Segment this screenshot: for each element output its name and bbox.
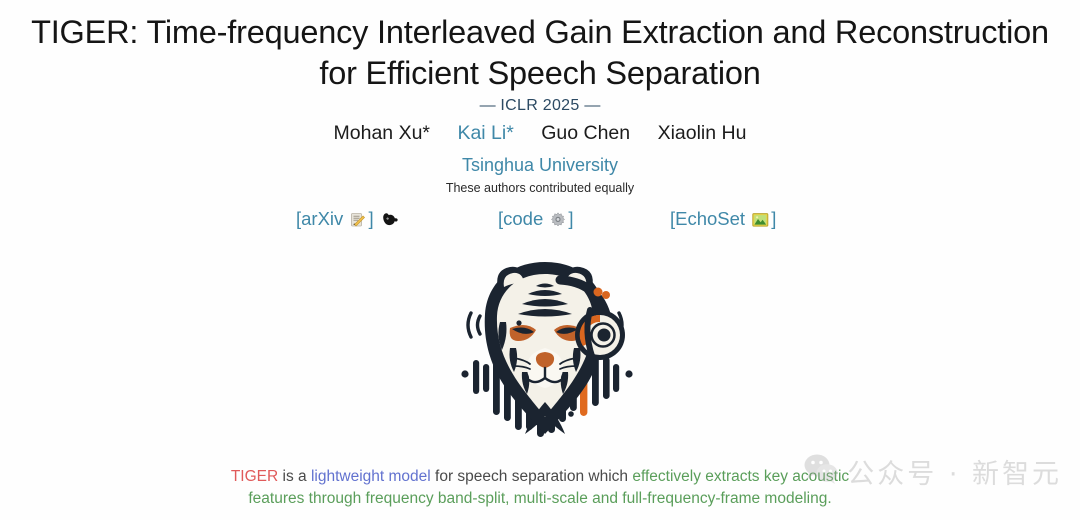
caption-line-1: TIGER is a lightweight model for speech … (0, 466, 1080, 488)
venue-badge: — ICLR 2025 — (480, 97, 601, 115)
arxiv-label: arXiv (301, 208, 343, 229)
title-line-2: for Efficient Speech Separation (0, 53, 1080, 94)
memo-icon (350, 209, 366, 235)
echoset-link[interactable]: [EchoSet ] (670, 206, 776, 235)
caption-line-2: features through frequency band-split, m… (0, 488, 1080, 510)
caption-seg-lightweight: lightweight model (311, 468, 431, 485)
code-label: code (503, 208, 543, 229)
author-kai-li[interactable]: Kai Li* (457, 122, 513, 145)
echoset-close-bracket: ] (771, 208, 776, 229)
resource-links-row: [arXiv ] [code (0, 206, 1080, 234)
arxiv-link[interactable]: [arXiv ] (296, 206, 399, 235)
slide-root: TIGER: Time-frequency Interleaved Gain E… (0, 0, 1080, 520)
caption-seg-forspeech: for speech separation which (431, 468, 633, 485)
equal-contribution-note: These authors contributed equally (0, 181, 1080, 195)
title-line-1: TIGER: Time-frequency Interleaved Gain E… (0, 12, 1080, 53)
gear-icon (550, 209, 566, 235)
venue-dash-left: — (480, 97, 496, 114)
tiger-headphones-waveform-logo (440, 252, 650, 457)
page-title: TIGER: Time-frequency Interleaved Gain E… (0, 12, 1080, 94)
echoset-label: EchoSet (675, 208, 745, 229)
code-close-bracket: ] (568, 208, 573, 229)
caption-seg-effectively: effectively extracts key acoustic (632, 468, 849, 485)
code-link[interactable]: [code ] (498, 206, 574, 235)
venue-dash-right: — (584, 97, 600, 114)
github-cat-icon[interactable] (382, 209, 399, 235)
author-guo-chen: Guo Chen (541, 122, 630, 145)
affiliation[interactable]: Tsinghua University (0, 155, 1080, 176)
author-xiaolin-hu: Xiaolin Hu (658, 122, 747, 145)
author-mohan-xu: Mohan Xu* (334, 122, 430, 145)
caption-seg-isa: is a (278, 468, 311, 485)
authors-row: Mohan Xu* Kai Li* Guo Chen Xiaolin Hu (0, 122, 1080, 145)
venue-row: — ICLR 2025 — (0, 97, 1080, 115)
caption-block: TIGER is a lightweight model for speech … (0, 466, 1080, 510)
venue-label: ICLR 2025 (500, 97, 579, 114)
framed-picture-icon (752, 209, 769, 235)
caption-seg-tiger: TIGER (231, 468, 278, 485)
arxiv-close-bracket: ] (368, 208, 373, 229)
